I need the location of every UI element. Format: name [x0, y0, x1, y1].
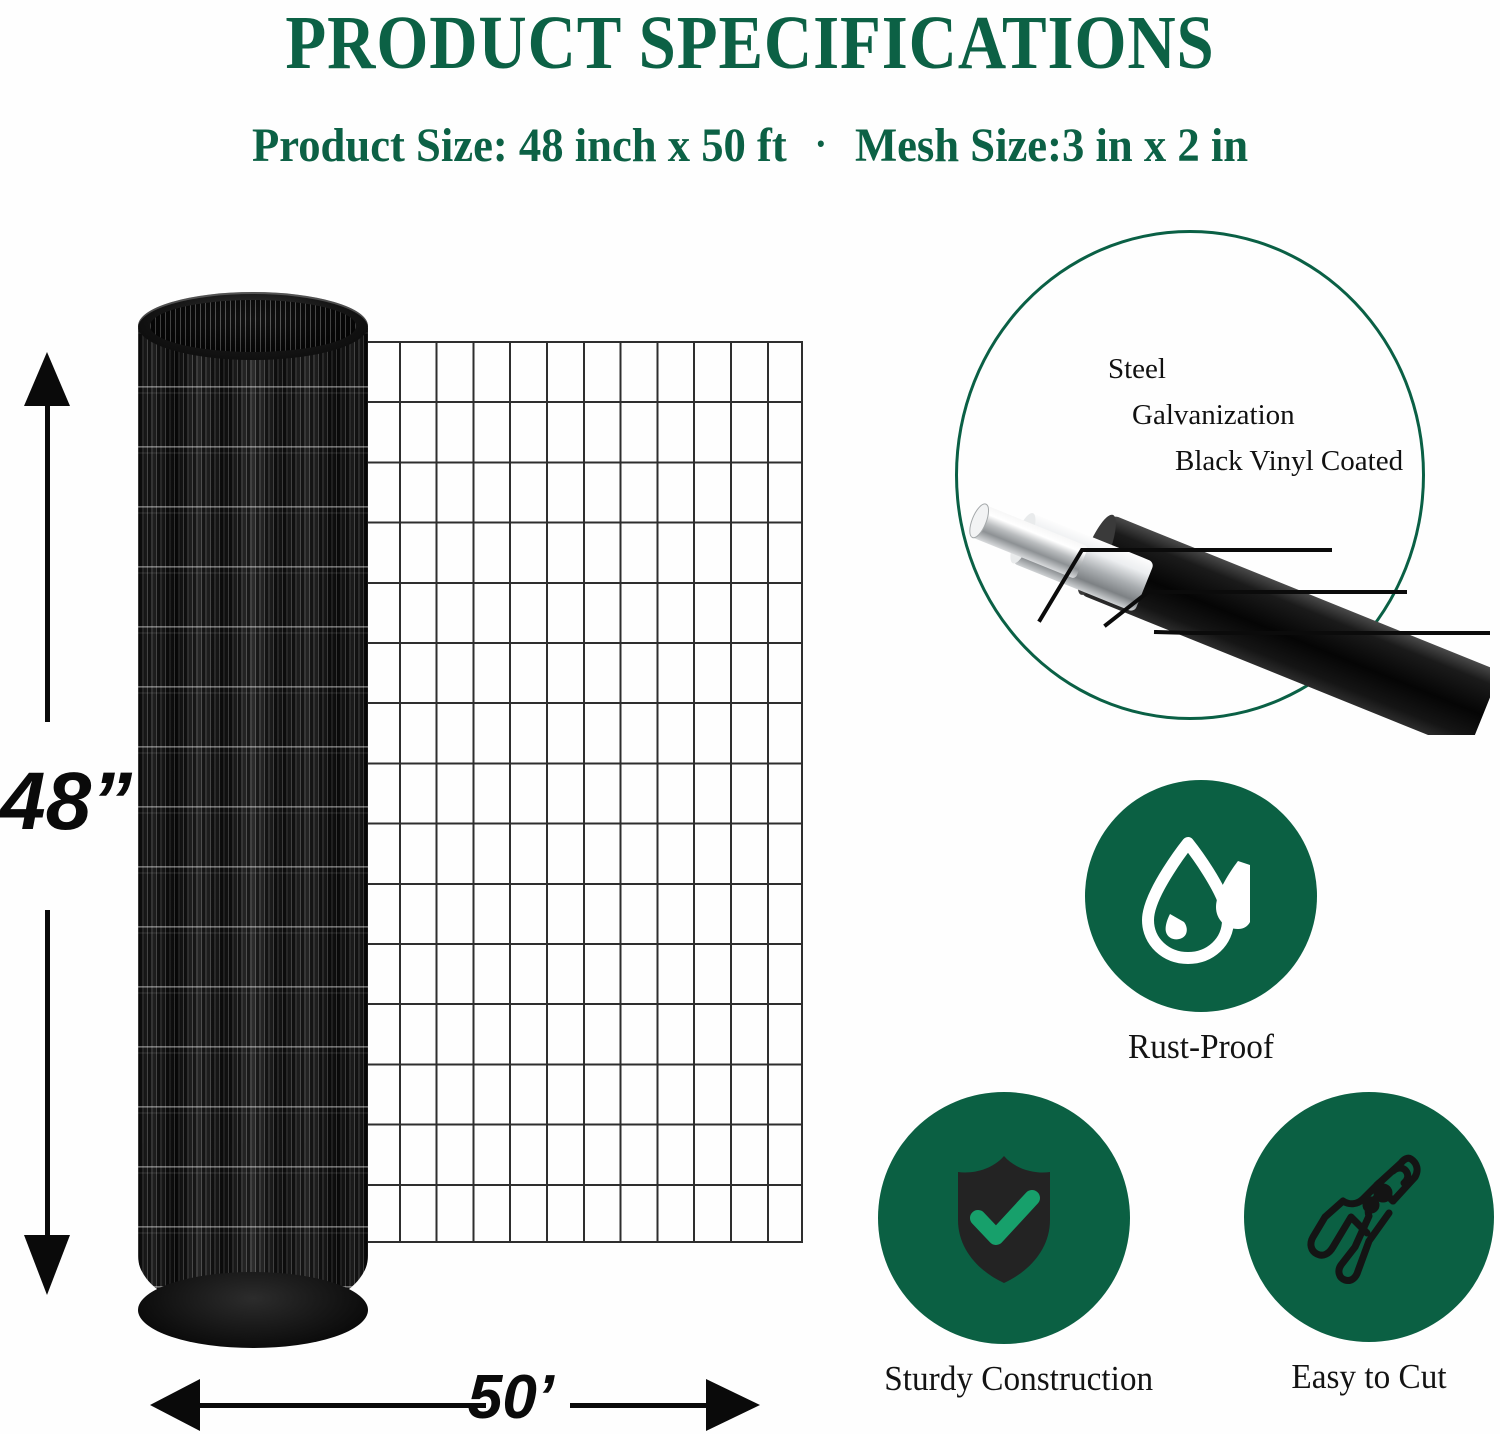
header: PRODUCT SPECIFICATIONS Product Size: 48 …: [0, 0, 1500, 200]
roll-ring-lines: [138, 326, 368, 1316]
feature-label-sturdy-construction: Sturdy Construction: [884, 1358, 1123, 1400]
black-vinyl-layer-shape: [1071, 511, 1490, 735]
feature-sturdy-construction: Sturdy Construction: [878, 1092, 1130, 1400]
arrow-head-left-icon: [150, 1379, 200, 1431]
height-dimension-label: 48”: [0, 756, 130, 848]
arrow-shaft-upper: [45, 392, 50, 722]
roll-top-ellipse: [138, 292, 368, 360]
arrow-shaft-left: [196, 1403, 486, 1408]
feature-easy-to-cut: Easy to Cut: [1244, 1092, 1494, 1398]
wire-cross-section-diagram: [930, 225, 1490, 735]
feature-label-easy-to-cut: Easy to Cut: [1250, 1356, 1488, 1398]
rust-proof-badge: [1085, 780, 1317, 1012]
roll-bottom-ellipse: [138, 1272, 368, 1348]
width-dimension-label: 50’: [446, 1362, 576, 1434]
water-drop-icon: [1126, 821, 1276, 971]
arrow-head-down-icon: [24, 1235, 70, 1295]
pliers-icon: [1289, 1137, 1449, 1297]
callout-label-black-vinyl-coated: Black Vinyl Coated: [1175, 444, 1403, 478]
sturdy-construction-badge: [878, 1092, 1130, 1344]
shield-check-icon: [928, 1142, 1080, 1294]
callout-label-galvanization: Galvanization: [1132, 398, 1295, 432]
easy-to-cut-badge: [1244, 1092, 1494, 1342]
wire-mesh-sheet-illustration: [362, 341, 803, 1243]
spec-separator-dot: ·: [815, 116, 827, 172]
wire-mesh-roll-illustration: [138, 292, 368, 1354]
page-title: PRODUCT SPECIFICATIONS: [90, 2, 1410, 84]
spec-subtitle: Product Size: 48 inch x 50 ft·Mesh Size:…: [53, 118, 1448, 176]
roll-top-inner-coils: [150, 300, 356, 352]
arrow-shaft-lower: [45, 910, 50, 1235]
feature-rust-proof: Rust-Proof: [1085, 780, 1317, 1068]
arrow-head-right-icon: [706, 1379, 760, 1431]
product-size-text: Product Size: 48 inch x 50 ft: [252, 118, 787, 174]
mesh-size-text: Mesh Size:3 in x 2 in: [855, 118, 1248, 174]
callout-label-steel: Steel: [1108, 352, 1166, 386]
feature-label-rust-proof: Rust-Proof: [1091, 1026, 1311, 1068]
roll-body: [138, 326, 368, 1316]
